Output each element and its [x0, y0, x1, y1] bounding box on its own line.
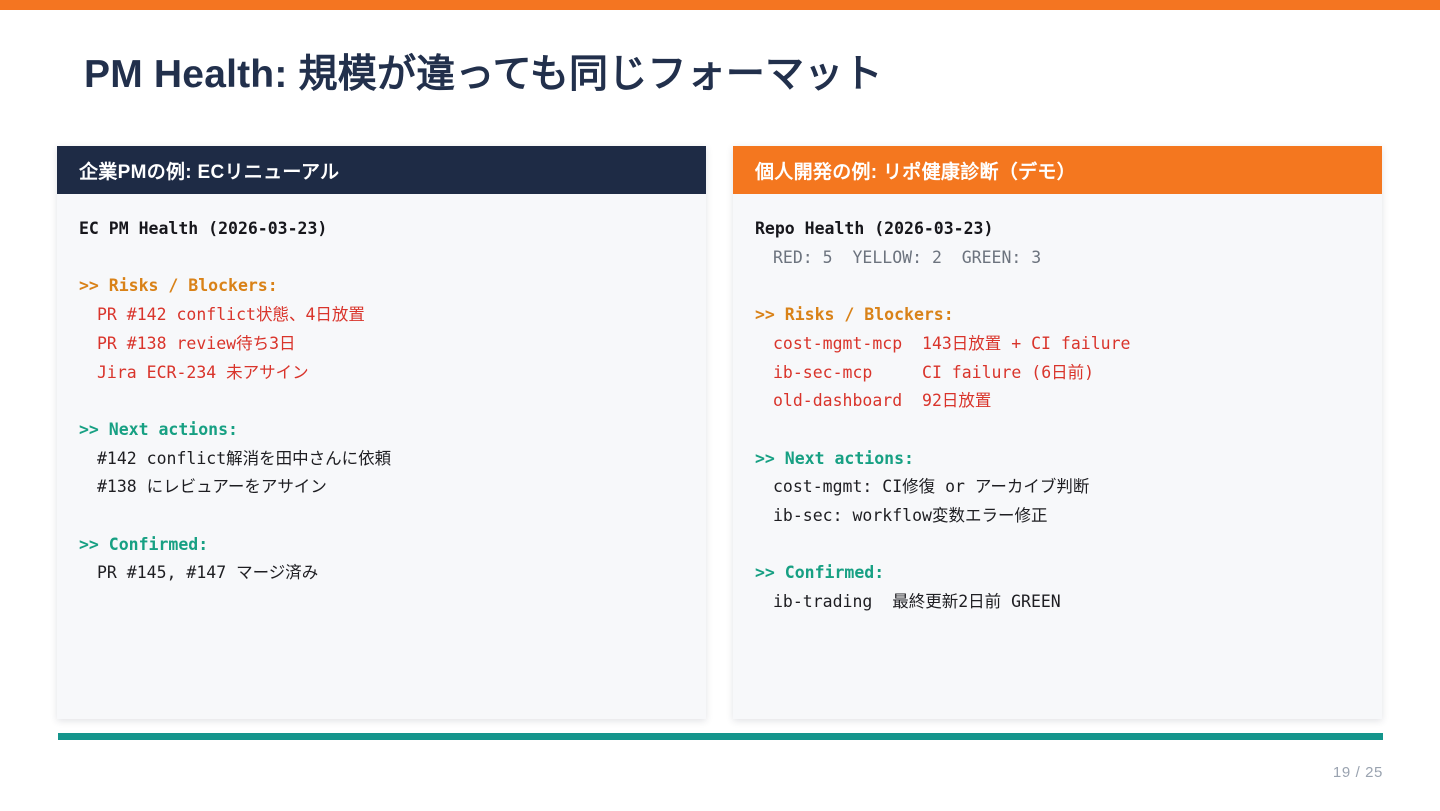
report-line-action: ib-sec: workflow変数エラー修正	[755, 502, 1382, 531]
card-body-personal-dev: Repo Health (2026-03-23)RED: 5 YELLOW: 2…	[733, 194, 1382, 617]
card-title-enterprise-pm: 企業PMの例: ECリニューアル	[79, 157, 339, 184]
top-accent-bar	[0, 0, 1440, 10]
report-line-risk: cost-mgmt-mcp 143日放置 + CI failure	[755, 330, 1382, 359]
card-enterprise-pm: 企業PMの例: ECリニューアル EC PM Health (2026-03-2…	[57, 146, 706, 719]
report-line-confirm: ib-trading 最終更新2日前 GREEN	[755, 588, 1382, 617]
report-line-risk: PR #142 conflict状態、4日放置	[79, 301, 706, 330]
report-line-risk: PR #138 review待ち3日	[79, 330, 706, 359]
report-line-confirm: PR #145, #147 マージ済み	[79, 559, 706, 588]
report-line-action: #142 conflict解消を田中さんに依頼	[79, 445, 706, 474]
report-spacer	[79, 244, 706, 273]
card-title-personal-dev: 個人開発の例: リポ健康診断（デモ）	[755, 157, 1076, 184]
report-line-title: EC PM Health (2026-03-23)	[79, 215, 706, 244]
report-line-risk: Jira ECR-234 未アサイン	[79, 359, 706, 388]
report-spacer	[755, 272, 1382, 301]
report-line-section-risk: >> Risks / Blockers:	[755, 301, 1382, 330]
card-header-enterprise-pm: 企業PMの例: ECリニューアル	[57, 146, 706, 194]
report-spacer	[79, 502, 706, 531]
card-header-personal-dev: 個人開発の例: リポ健康診断（デモ）	[733, 146, 1382, 194]
report-spacer	[79, 387, 706, 416]
report-line-section-confirm: >> Confirmed:	[79, 531, 706, 560]
report-line-action: cost-mgmt: CI修復 or アーカイブ判断	[755, 473, 1382, 502]
report-line-section-risk: >> Risks / Blockers:	[79, 272, 706, 301]
report-line-action: #138 にレビュアーをアサイン	[79, 473, 706, 502]
bottom-accent-rule	[58, 733, 1383, 740]
page-title: PM Health: 規模が違っても同じフォーマット	[84, 52, 883, 99]
report-line-section-next: >> Next actions:	[755, 445, 1382, 474]
report-line-section-confirm: >> Confirmed:	[755, 559, 1382, 588]
report-line-risk: ib-sec-mcp CI failure (6日前)	[755, 359, 1382, 388]
report-spacer	[755, 531, 1382, 560]
card-body-enterprise-pm: EC PM Health (2026-03-23)>> Risks / Bloc…	[57, 194, 706, 588]
report-line-summary: RED: 5 YELLOW: 2 GREEN: 3	[755, 244, 1382, 273]
card-personal-dev: 個人開発の例: リポ健康診断（デモ） Repo Health (2026-03-…	[733, 146, 1382, 719]
report-line-title: Repo Health (2026-03-23)	[755, 215, 1382, 244]
page-number: 19 / 25	[1333, 764, 1383, 781]
report-spacer	[755, 416, 1382, 445]
report-line-section-next: >> Next actions:	[79, 416, 706, 445]
report-line-risk: old-dashboard 92日放置	[755, 387, 1382, 416]
